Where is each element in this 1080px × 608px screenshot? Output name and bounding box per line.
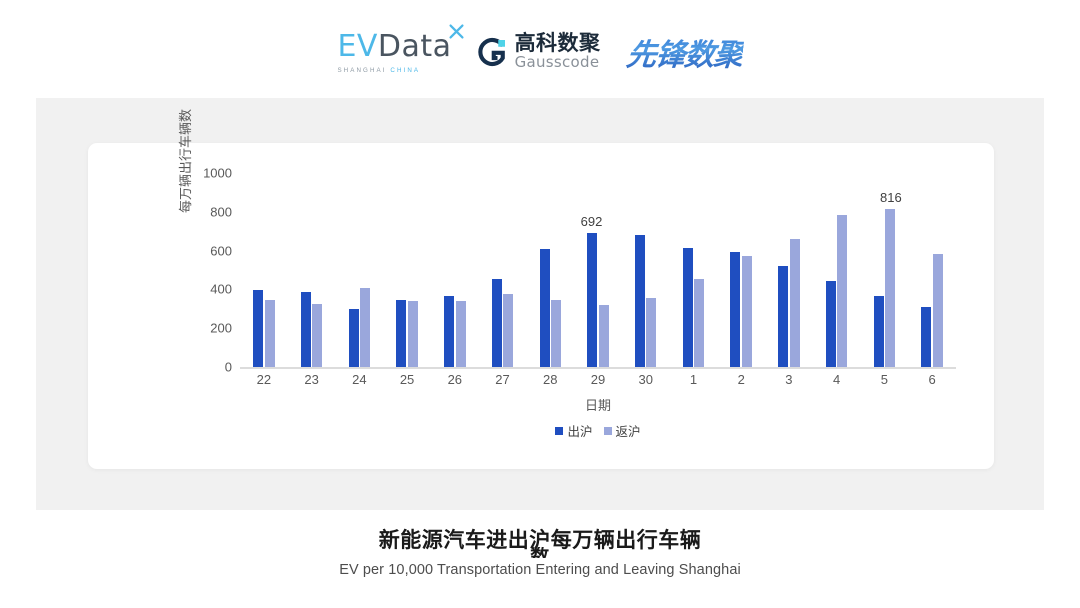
gausscode-cn-name: 高科数聚 <box>515 33 601 55</box>
bar-fan-hu[interactable] <box>312 304 322 367</box>
x-cross-icon <box>448 23 465 40</box>
bar-fan-hu[interactable] <box>694 279 704 367</box>
xianfeng-shuju-logo: 先锋数聚 <box>624 28 745 74</box>
x-tick-label: 28 <box>543 372 557 387</box>
bar-group[interactable] <box>908 173 956 367</box>
plot-area: 692816 <box>240 173 956 367</box>
legend-item[interactable]: 出沪 <box>555 421 592 440</box>
bar-group[interactable] <box>383 173 431 367</box>
bar-fan-hu[interactable] <box>885 209 895 367</box>
x-tick-label: 23 <box>304 372 318 387</box>
bar-chu-hu[interactable] <box>253 290 263 367</box>
bar-group[interactable] <box>335 173 383 367</box>
bar-chu-hu[interactable] <box>396 300 406 368</box>
bar-value-label: 692 <box>581 214 603 229</box>
evdata-tagline-country: CHINA <box>390 67 420 74</box>
bar-group[interactable] <box>717 173 765 367</box>
caption: 新能源汽车进出沪每万辆出行车辆 数 EV per 10,000 Transpor… <box>0 528 1080 578</box>
bar-fan-hu[interactable] <box>933 254 943 367</box>
bar-chu-hu[interactable] <box>301 292 311 367</box>
bar-group[interactable] <box>288 173 336 367</box>
x-tick-label: 22 <box>257 372 271 387</box>
x-tick-label: 2 <box>738 372 745 387</box>
bar-fan-hu[interactable] <box>551 300 561 367</box>
logo-bar: EVData SHANGHAI CHINA 高科数聚 Gausscode 先锋数… <box>0 22 1080 80</box>
bar-chu-hu[interactable] <box>540 249 550 367</box>
bar-group[interactable] <box>574 173 622 367</box>
legend-item[interactable]: 返沪 <box>604 421 641 440</box>
x-axis-title: 日期 <box>240 395 956 414</box>
bar-fan-hu[interactable] <box>646 298 656 367</box>
y-axis-ticks: 02004006008001000 <box>190 173 232 367</box>
bar-chu-hu[interactable] <box>444 296 454 367</box>
bar-fan-hu[interactable] <box>742 256 752 367</box>
bar-fan-hu[interactable] <box>599 305 609 367</box>
bar-fan-hu[interactable] <box>408 301 418 367</box>
x-tick-label: 5 <box>881 372 888 387</box>
gausscode-logo: 高科数聚 Gausscode <box>478 31 601 71</box>
legend-swatch <box>555 427 563 435</box>
bar-chu-hu[interactable] <box>826 281 836 367</box>
bar-chu-hu[interactable] <box>349 309 359 367</box>
x-tick-label: 26 <box>448 372 462 387</box>
bar-group[interactable] <box>431 173 479 367</box>
caption-subtitle-en: EV per 10,000 Transportation Entering an… <box>0 562 1080 578</box>
evdata-ev-text: EV <box>337 29 377 64</box>
gausscode-text: 高科数聚 Gausscode <box>515 33 601 71</box>
x-tick-label: 1 <box>690 372 697 387</box>
chart-card: 每万辆出行车辆数 02004006008001000 692816 222324… <box>88 143 994 469</box>
evdata-logo: EVData SHANGHAI CHINA <box>337 28 451 74</box>
bar-fan-hu[interactable] <box>790 239 800 367</box>
bar-value-label: 816 <box>880 190 902 205</box>
bar-group[interactable] <box>813 173 861 367</box>
bar-fan-hu[interactable] <box>456 301 466 367</box>
bar-fan-hu[interactable] <box>503 294 513 367</box>
legend-label: 返沪 <box>616 421 641 440</box>
y-tick-label: 800 <box>210 204 232 219</box>
x-tick-label: 4 <box>833 372 840 387</box>
bar-fan-hu[interactable] <box>265 300 275 368</box>
x-tick-label: 24 <box>352 372 366 387</box>
legend-swatch <box>604 427 612 435</box>
bar-group[interactable] <box>765 173 813 367</box>
bar-chart: 每万辆出行车辆数 02004006008001000 692816 222324… <box>88 143 994 469</box>
bar-group[interactable] <box>622 173 670 367</box>
bar-chu-hu[interactable] <box>778 266 788 367</box>
legend-label: 出沪 <box>567 421 592 440</box>
caption-title-cn: 新能源汽车进出沪每万辆出行车辆 数 <box>0 528 1080 553</box>
bar-chu-hu[interactable] <box>921 307 931 367</box>
bar-fan-hu[interactable] <box>837 215 847 367</box>
bar-chu-hu[interactable] <box>587 233 597 367</box>
y-tick-label: 400 <box>210 282 232 297</box>
bar-fan-hu[interactable] <box>360 288 370 367</box>
x-tick-label: 29 <box>591 372 605 387</box>
caption-title-text: 新能源汽车进出沪每万辆出行车辆 <box>379 529 702 552</box>
x-axis-ticks: 222324252627282930123456 <box>240 372 956 392</box>
y-tick-label: 200 <box>210 321 232 336</box>
x-axis-line <box>240 367 956 369</box>
evdata-tagline-city: SHANGHAI <box>337 67 386 74</box>
bar-chu-hu[interactable] <box>683 248 693 367</box>
x-tick-label: 6 <box>929 372 936 387</box>
chart-legend: 出沪返沪 <box>240 421 956 440</box>
bar-group[interactable] <box>240 173 288 367</box>
bar-group[interactable] <box>670 173 718 367</box>
x-tick-label: 3 <box>785 372 792 387</box>
x-tick-label: 25 <box>400 372 414 387</box>
bar-chu-hu[interactable] <box>492 279 502 367</box>
evdata-data-text: Data <box>378 29 452 64</box>
evdata-wordmark: EVData <box>337 32 451 62</box>
bar-chu-hu[interactable] <box>730 252 740 367</box>
y-tick-label: 600 <box>210 243 232 258</box>
x-tick-label: 30 <box>638 372 652 387</box>
gausscode-c-mark-icon <box>478 37 508 67</box>
evdata-tagline: SHANGHAI CHINA <box>337 67 420 74</box>
x-tick-label: 27 <box>495 372 509 387</box>
y-tick-label: 1000 <box>203 166 232 181</box>
bar-chu-hu[interactable] <box>635 235 645 367</box>
y-tick-label: 0 <box>225 360 232 375</box>
bar-group[interactable] <box>479 173 527 367</box>
gausscode-en-name: Gausscode <box>515 55 600 71</box>
bar-chu-hu[interactable] <box>874 296 884 367</box>
bar-group[interactable] <box>526 173 574 367</box>
